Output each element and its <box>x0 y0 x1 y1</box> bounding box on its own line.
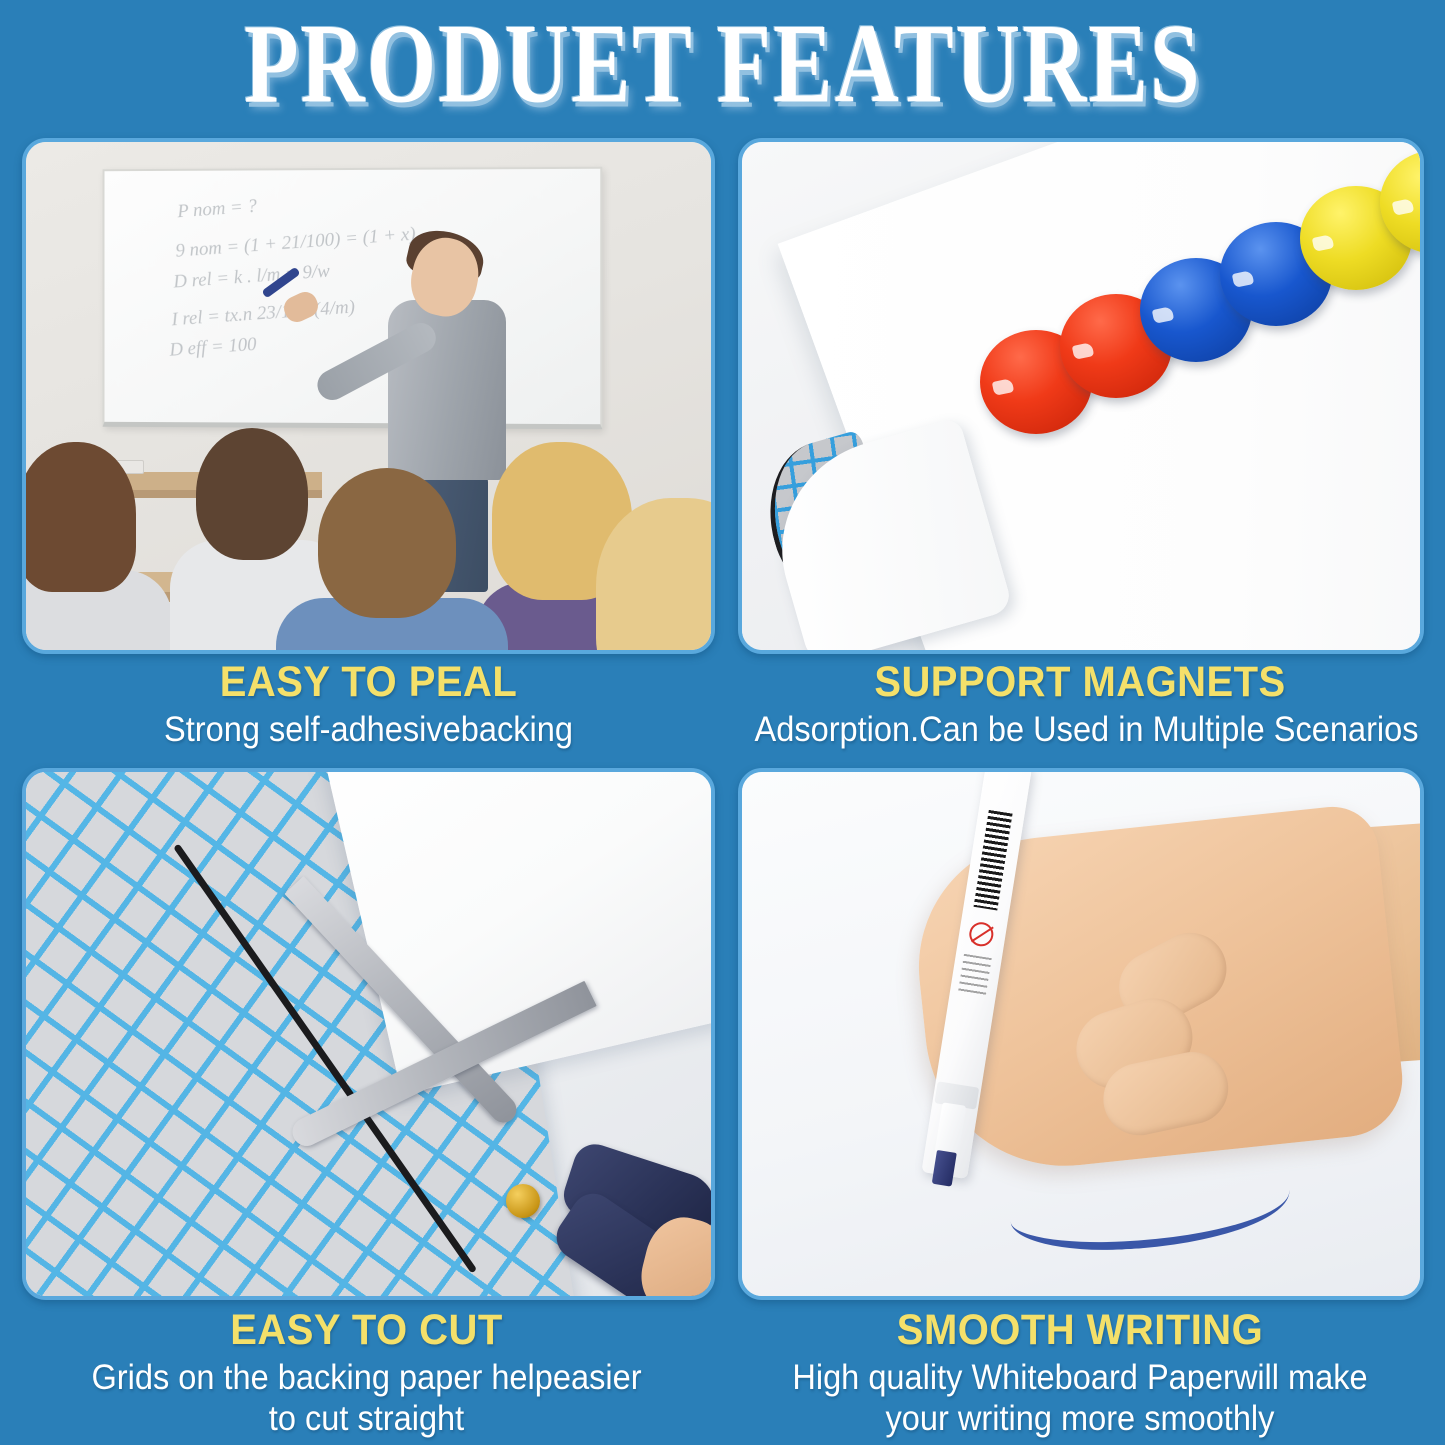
feature-caption-easy-to-cut: EASY TO CUT Grids on the backing paper h… <box>14 1308 719 1440</box>
feature-subtext: Adsorption.Can be Used in Multiple Scena… <box>755 709 1406 750</box>
feature-image-easy-to-cut <box>22 768 715 1300</box>
marker-nib <box>932 1150 957 1187</box>
feature-image-smooth-writing <box>738 768 1424 1300</box>
feature-subtext-line1: High quality Whiteboard Paperwill make <box>755 1357 1406 1398</box>
writing-photo <box>742 772 1420 1296</box>
cutting-scene <box>26 772 711 1296</box>
whiteboard-formula: I rel = tx.n 23/100 (4/m) <box>171 297 356 332</box>
writing-scene <box>742 772 1420 1296</box>
whiteboard-formula: P nom = ? <box>177 196 258 224</box>
whiteboard-formula: D rel = k . l/m = 9/w <box>173 261 331 294</box>
feature-subtext-line2: your writing more smoothly <box>755 1398 1406 1439</box>
ink-stroke <box>1008 1157 1292 1256</box>
feature-heading: SMOOTH WRITING <box>755 1308 1406 1353</box>
magnets-scene <box>742 142 1420 650</box>
student-figure <box>26 442 162 650</box>
barcode-label <box>974 810 1013 911</box>
magnets-photo <box>742 142 1420 650</box>
page-title: PRODUET FEATURES <box>244 0 1202 129</box>
student-head <box>596 498 711 650</box>
warning-icon <box>968 921 995 948</box>
feature-subtext-line2: to cut straight <box>39 1398 695 1439</box>
student-head <box>26 442 136 592</box>
feature-heading: SUPPORT MAGNETS <box>755 660 1406 705</box>
cutting-photo <box>26 772 711 1296</box>
classroom-scene: P nom = ? 9 nom = (1 + 21/100) = (1 + x)… <box>26 142 711 650</box>
student-figure <box>586 498 711 650</box>
feature-subtext-line1: Grids on the backing paper helpeasier <box>39 1357 695 1398</box>
page-header: PRODUET FEATURES <box>0 0 1445 128</box>
feature-image-easy-to-peal: P nom = ? 9 nom = (1 + 21/100) = (1 + x)… <box>22 138 715 654</box>
student-figure <box>276 468 496 650</box>
student-head <box>318 468 456 618</box>
classroom-photo: P nom = ? 9 nom = (1 + 21/100) = (1 + x)… <box>26 142 711 650</box>
feature-image-support-magnets <box>738 138 1424 654</box>
feature-caption-easy-to-peal: EASY TO PEAL Strong self-adhesivebacking <box>22 660 715 750</box>
feature-caption-support-magnets: SUPPORT MAGNETS Adsorption.Can be Used i… <box>730 660 1430 750</box>
feature-subtext: Strong self-adhesivebacking <box>46 709 690 750</box>
marker-text-label <box>958 954 992 998</box>
whiteboard-formula: D eff = 100 <box>169 334 258 362</box>
scissors-pivot-screw <box>506 1184 540 1218</box>
feature-caption-smooth-writing: SMOOTH WRITING High quality Whiteboard P… <box>730 1308 1430 1440</box>
feature-heading: EASY TO PEAL <box>46 660 690 705</box>
feature-heading: EASY TO CUT <box>39 1308 695 1353</box>
